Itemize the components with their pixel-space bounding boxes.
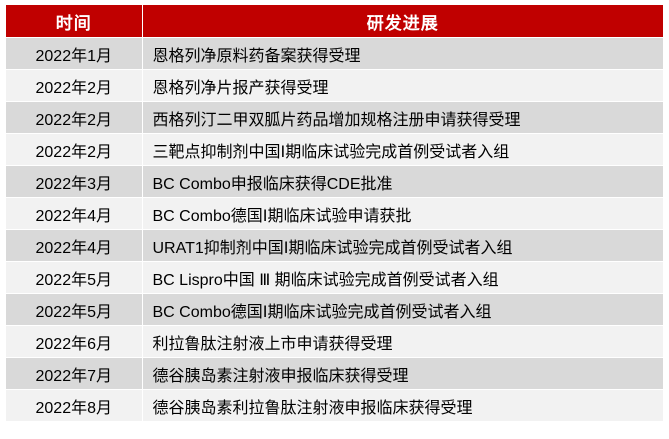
cell-time: 2022年2月: [6, 70, 142, 102]
table-header: 时间 研发进展: [6, 5, 663, 38]
table-row: 2022年7月德谷胰岛素注射液申报临床获得受理: [6, 358, 663, 390]
cell-progress: 德谷胰岛素注射液申报临床获得受理: [142, 358, 663, 390]
cell-time: 2022年2月: [6, 134, 142, 166]
table-row: 2022年4月BC Combo德国Ⅰ期临床试验申请获批: [6, 198, 663, 230]
cell-time: 2022年4月: [6, 198, 142, 230]
table-row: 2022年1月恩格列净原料药备案获得受理: [6, 38, 663, 70]
table-row: 2022年8月德谷胰岛素利拉鲁肽注射液申报临床获得受理: [6, 390, 663, 422]
table-row: 2022年4月URAT1抑制剂中国Ⅰ期临床试验完成首例受试者入组: [6, 230, 663, 262]
cell-time: 2022年7月: [6, 358, 142, 390]
cell-progress: 恩格列净原料药备案获得受理: [142, 38, 663, 70]
table-row: 2022年6月利拉鲁肽注射液上市申请获得受理: [6, 326, 663, 358]
cell-progress: 德谷胰岛素利拉鲁肽注射液申报临床获得受理: [142, 390, 663, 422]
cell-progress: BC Combo德国Ⅰ期临床试验申请获批: [142, 198, 663, 230]
cell-time: 2022年5月: [6, 294, 142, 326]
cell-time: 2022年8月: [6, 390, 142, 422]
cell-progress: 利拉鲁肽注射液上市申请获得受理: [142, 326, 663, 358]
table-row: 2022年5月BC Combo德国Ⅰ期临床试验完成首例受试者入组: [6, 294, 663, 326]
cell-time: 2022年6月: [6, 326, 142, 358]
table-body: 2022年1月恩格列净原料药备案获得受理2022年2月恩格列净片报产获得受理20…: [6, 38, 663, 422]
cell-time: 2022年4月: [6, 230, 142, 262]
table-row: 2022年2月西格列汀二甲双胍片药品增加规格注册申请获得受理: [6, 102, 663, 134]
cell-progress: BC Lispro中国 Ⅲ 期临床试验完成首例受试者入组: [142, 262, 663, 294]
rd-progress-table: 时间 研发进展 2022年1月恩格列净原料药备案获得受理2022年2月恩格列净片…: [6, 4, 663, 422]
cell-progress: 西格列汀二甲双胍片药品增加规格注册申请获得受理: [142, 102, 663, 134]
table-row: 2022年3月BC Combo申报临床获得CDE批准: [6, 166, 663, 198]
table-row: 2022年2月恩格列净片报产获得受理: [6, 70, 663, 102]
table-header-row: 时间 研发进展: [6, 5, 663, 38]
cell-progress: 三靶点抑制剂中国Ⅰ期临床试验完成首例受试者入组: [142, 134, 663, 166]
table-row: 2022年5月BC Lispro中国 Ⅲ 期临床试验完成首例受试者入组: [6, 262, 663, 294]
cell-progress: BC Combo德国Ⅰ期临床试验完成首例受试者入组: [142, 294, 663, 326]
table-row: 2022年2月三靶点抑制剂中国Ⅰ期临床试验完成首例受试者入组: [6, 134, 663, 166]
cell-progress: 恩格列净片报产获得受理: [142, 70, 663, 102]
cell-time: 2022年5月: [6, 262, 142, 294]
cell-progress: BC Combo申报临床获得CDE批准: [142, 166, 663, 198]
column-header-time: 时间: [6, 5, 142, 38]
cell-time: 2022年1月: [6, 38, 142, 70]
rd-progress-table-container: 时间 研发进展 2022年1月恩格列净原料药备案获得受理2022年2月恩格列净片…: [0, 0, 669, 439]
cell-time: 2022年3月: [6, 166, 142, 198]
cell-time: 2022年2月: [6, 102, 142, 134]
cell-progress: URAT1抑制剂中国Ⅰ期临床试验完成首例受试者入组: [142, 230, 663, 262]
column-header-progress: 研发进展: [142, 5, 663, 38]
